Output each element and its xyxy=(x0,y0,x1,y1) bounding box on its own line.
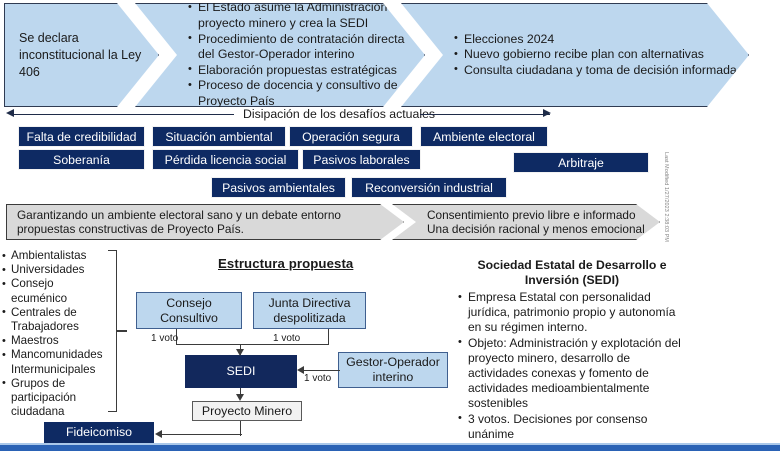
list-item: Centrales de xyxy=(2,306,110,320)
list-item: Nuevo gobierno recibe plan con alternati… xyxy=(454,47,740,63)
connector-junta-vertical xyxy=(328,329,329,345)
challenge-badge: Ambiente electoral xyxy=(420,126,548,147)
bottom-accent-band xyxy=(0,443,780,451)
challenge-badge: Pasivos laborales xyxy=(302,149,421,170)
phase-chevron-1: Se declara inconstitucional la Ley 406 xyxy=(4,3,159,107)
sedi-info-heading: Sociedad Estatal de Desarrollo e Inversi… xyxy=(458,258,686,288)
connector-gestor-to-sedi xyxy=(300,370,340,371)
challenge-badge: Situación ambiental xyxy=(152,126,286,147)
disipacion-label: Disipación de los desafíos actuales xyxy=(243,106,435,122)
list-item: 3 votos. Decisiones por consenso unánime xyxy=(458,412,686,442)
phase-2-bullet-list: El Estado asume la Administración del pr… xyxy=(188,0,416,109)
outcome-right-line-2: Una decisión racional y menos emocional xyxy=(427,222,645,237)
arrow-right-icon xyxy=(543,109,551,117)
disipacion-row: Disipación de los desafíos actuales xyxy=(0,106,780,126)
sedi-info-bullet-list: Empresa Estatal con personalidad jurídic… xyxy=(458,290,686,442)
stakeholder-bracket-stub xyxy=(117,330,127,332)
connector-to-fideicomiso xyxy=(158,434,242,435)
arrow-left-line xyxy=(12,114,234,115)
challenge-badge: Soberanía xyxy=(18,149,145,170)
phase-chevron-3: Elecciones 2024 Nuevo gobierno recibe pl… xyxy=(401,3,749,107)
org-node-gestor-operador[interactable]: Gestor-Operador interino xyxy=(338,352,448,388)
list-item-continuation: Intermunicipales xyxy=(2,363,110,377)
arrow-right-line xyxy=(420,114,550,115)
connector-horizontal-top xyxy=(176,344,329,345)
arrow-down-to-sedi-icon xyxy=(236,349,244,356)
arrow-down-to-proyecto-icon xyxy=(236,394,244,401)
list-item-continuation: participación xyxy=(2,391,110,405)
challenge-badge: Operación segura xyxy=(289,126,413,147)
phase-1-title: Se declara inconstitucional la Ley 406 xyxy=(19,30,150,81)
org-node-junta-directiva[interactable]: Junta Directiva despolitizada xyxy=(253,292,366,329)
list-item: Procedimiento de contratación directa de… xyxy=(188,32,416,63)
list-item: Grupos de xyxy=(2,377,110,391)
list-item: Proceso de docencia y consultivo de Proy… xyxy=(188,78,416,109)
org-node-proyecto-minero[interactable]: Proyecto Minero xyxy=(192,401,302,421)
vote-label-consejo: 1 voto xyxy=(151,333,178,344)
challenge-badge: Reconversión industrial xyxy=(351,177,507,198)
outcome-left-line-2: propuestas constructivas de Proyecto Paí… xyxy=(17,222,341,237)
stakeholder-list: Ambientalistas Universidades Consejo ecu… xyxy=(2,249,110,419)
list-item: Consulta ciudadana y toma de decisión in… xyxy=(454,63,740,79)
vote-label-junta: 1 voto xyxy=(273,333,300,344)
list-item: Ambientalistas xyxy=(2,249,110,263)
list-item: Maestros xyxy=(2,334,110,348)
stakeholder-bracket xyxy=(108,250,117,412)
challenge-badge: Pérdida licencia social xyxy=(152,149,299,170)
list-item: Elecciones 2024 xyxy=(454,32,740,48)
phase-chevron-2: El Estado asume la Administración del pr… xyxy=(135,3,425,107)
challenge-badge: Pasivos ambientales xyxy=(211,177,346,198)
phase-3-bullet-list: Elecciones 2024 Nuevo gobierno recibe pl… xyxy=(454,32,740,79)
list-item: Objeto: Administración y explotación del… xyxy=(458,336,686,411)
org-node-sedi[interactable]: SEDI xyxy=(185,355,297,388)
challenge-badge: Arbitraje xyxy=(513,152,649,173)
list-item: Empresa Estatal con personalidad jurídic… xyxy=(458,290,686,335)
list-item: Universidades xyxy=(2,263,110,277)
challenge-badge: Falta de credibilidad xyxy=(18,126,145,147)
list-item: Elaboración propuestas estratégicas xyxy=(188,63,416,79)
arrow-left-to-fideicomiso-icon xyxy=(155,430,162,438)
outcome-right-line-1: Consentimiento previo libre e informado xyxy=(427,208,645,223)
outcome-chevron-left: Garantizando un ambiente electoral sano … xyxy=(6,204,404,240)
org-node-fideicomiso[interactable]: Fideicomiso xyxy=(44,422,154,443)
vote-label-gestor: 1 voto xyxy=(304,373,331,384)
list-item-continuation: ciudadana xyxy=(2,405,110,419)
phase-chevron-band: Se declara inconstitucional la Ley 406 E… xyxy=(4,3,776,107)
list-item-continuation: Trabajadores xyxy=(2,320,110,334)
arrow-left-icon xyxy=(6,109,14,117)
outcome-chevron-right: Consentimiento previo libre e informado … xyxy=(392,204,660,240)
org-chart-title: Estructura propuesta xyxy=(218,256,353,271)
sedi-info-block: Sociedad Estatal de Desarrollo e Inversi… xyxy=(458,258,686,442)
arrow-left-to-sedi-icon xyxy=(297,366,304,374)
org-node-consejo-consultivo[interactable]: Consejo Consultivo xyxy=(136,292,242,329)
list-item: Mancomunidades xyxy=(2,348,110,362)
list-item: El Estado asume la Administración del pr… xyxy=(188,0,416,31)
list-item: Consejo ecuménico xyxy=(2,277,110,305)
slide-canvas: Se declara inconstitucional la Ley 406 E… xyxy=(0,0,780,451)
last-modified-note: Last Modified 1/27/2023 2:38:03 PM xyxy=(663,152,669,248)
outcome-left-line-1: Garantizando un ambiente electoral sano … xyxy=(17,208,341,223)
